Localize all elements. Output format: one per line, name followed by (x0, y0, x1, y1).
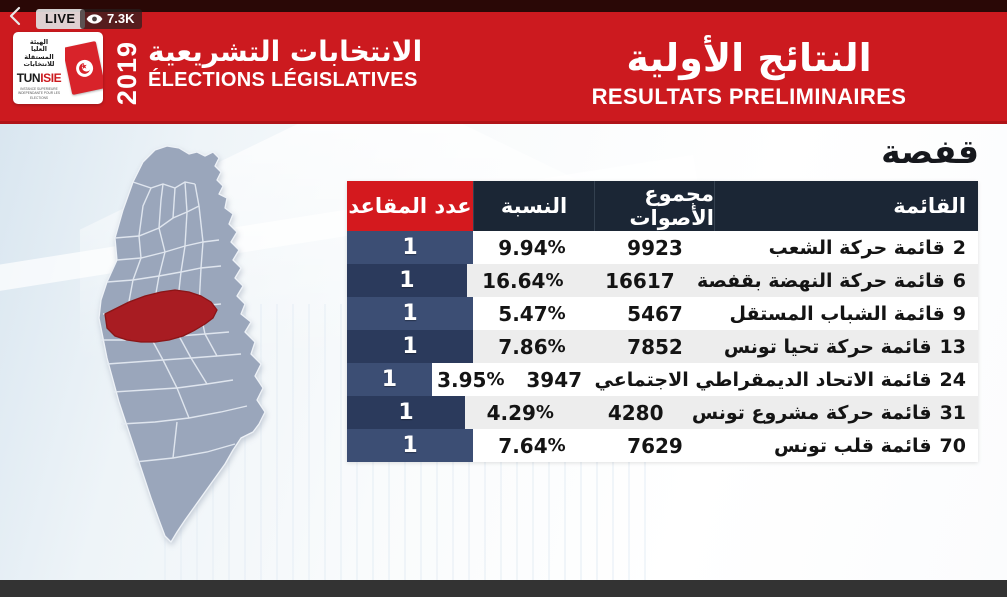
results-heading-french: RESULTATS PRELIMINAIRES (519, 84, 979, 110)
cell-percent: %9.94 (473, 231, 595, 264)
percent-sign: % (545, 270, 563, 291)
cell-seats: 1 (347, 264, 467, 297)
percent-sign: % (536, 402, 554, 423)
election-branding: 2019 الانتخابات التشريعية ÉLECTIONS LÉGI… (112, 36, 422, 105)
bottom-bar (0, 580, 1007, 597)
top-dark-strip (0, 0, 1007, 12)
cell-seats: 1 (347, 297, 473, 330)
tunisia-map-icon (55, 132, 355, 562)
cell-percent: %3.95 (432, 363, 514, 396)
list-name-inner: 70قائمة قلب تونس (715, 435, 966, 457)
page-header: الهيئة العليا المستقلة للانتخابات TUNISI… (0, 12, 1007, 124)
list-label: قائمة الشباب المستقل (729, 303, 944, 325)
column-header-percent: النسبة (473, 181, 595, 231)
isie-logo: الهيئة العليا المستقلة للانتخابات TUNISI… (13, 32, 103, 104)
header-bottom-accent (0, 121, 1007, 124)
percent-sign: % (548, 303, 566, 324)
logo-acronym: TUNISIE (17, 71, 62, 85)
list-number: 13 (940, 336, 966, 358)
list-number: 9 (953, 303, 966, 325)
election-title-arabic: الانتخابات التشريعية (148, 36, 422, 68)
list-label: قائمة حركة النهضة بقفصة (697, 270, 945, 292)
region-name: قفصة (881, 132, 979, 171)
list-name-inner: 6قائمة حركة النهضة بقفصة (697, 270, 966, 292)
flag-white-disc: ★ (74, 58, 94, 78)
cell-votes: 3947 (514, 363, 595, 396)
table-header: عدد المقاعد النسبة مجموع الأصوات القائمة (347, 181, 978, 231)
cell-percent: %16.64 (467, 264, 583, 297)
column-header-seats: عدد المقاعد (347, 181, 473, 231)
percent-sign: % (548, 435, 566, 456)
percent-value: 7.86 (498, 335, 547, 359)
logo-text-block: الهيئة العليا المستقلة للانتخابات TUNISI… (13, 32, 65, 104)
table-row: 1%9.9499232قائمة حركة الشعب (347, 231, 978, 264)
list-label: قائمة حركة تحيا تونس (724, 336, 932, 358)
cell-list-name: 6قائمة حركة النهضة بقفصة (697, 264, 978, 297)
table-row: 1%7.64762970قائمة قلب تونس (347, 429, 978, 462)
logo-arabic-line-2: العليا (31, 46, 47, 53)
list-name-inner: 2قائمة حركة الشعب (715, 237, 966, 259)
live-badge: LIVE (36, 9, 85, 29)
cell-percent: %5.47 (473, 297, 595, 330)
cell-percent: %7.64 (473, 429, 595, 462)
logo-acronym-suffix: ISIE (40, 71, 61, 85)
logo-arabic-line-4: للانتخابات (23, 61, 54, 68)
results-table: عدد المقاعد النسبة مجموع الأصوات القائمة… (347, 181, 978, 462)
cell-list-name: 13قائمة حركة تحيا تونس (715, 330, 978, 363)
percent-sign: % (548, 336, 566, 357)
results-heading: النتائج الأولية RESULTATS PRELIMINAIRES (519, 36, 979, 110)
cell-seats: 1 (347, 330, 473, 363)
cell-votes: 5467 (595, 297, 715, 330)
logo-flag-block: ★ (65, 32, 103, 104)
logo-arabic-lines: الهيئة العليا المستقلة للانتخابات (23, 39, 54, 68)
cell-list-name: 31قائمة حركة مشروع تونس (692, 396, 978, 429)
cell-seats: 1 (347, 396, 465, 429)
list-label: قائمة حركة مشروع تونس (692, 402, 932, 424)
table-body: 1%9.9499232قائمة حركة الشعب1%16.64166176… (347, 231, 978, 462)
table-row: 1%16.64166176قائمة حركة النهضة بقفصة (347, 264, 978, 297)
percent-value: 3.95 (437, 368, 486, 392)
list-name-inner: 9قائمة الشباب المستقل (715, 303, 966, 325)
cell-list-name: 70قائمة قلب تونس (715, 429, 978, 462)
back-chevron-icon[interactable] (4, 2, 26, 30)
percent-sign: % (486, 369, 504, 390)
percent-value: 5.47 (498, 302, 547, 326)
cell-list-name: 24قائمة الاتحاد الديمقراطي الاجتماعي (595, 363, 978, 396)
list-number: 2 (953, 237, 966, 259)
column-header-list: القائمة (715, 181, 978, 231)
table-row: 1%3.95394724قائمة الاتحاد الديمقراطي الا… (347, 363, 978, 396)
cell-list-name: 9قائمة الشباب المستقل (715, 297, 978, 330)
viewer-count-value: 7.3K (107, 11, 134, 26)
list-name-inner: 24قائمة الاتحاد الديمقراطي الاجتماعي (595, 369, 966, 391)
election-title-block: الانتخابات التشريعية ÉLECTIONS LÉGISLATI… (148, 36, 422, 91)
cell-seats: 1 (347, 231, 473, 264)
cell-seats: 1 (347, 363, 432, 396)
cell-votes: 4280 (579, 396, 691, 429)
election-title-french: ÉLECTIONS LÉGISLATIVES (148, 69, 422, 91)
results-heading-arabic: النتائج الأولية (519, 36, 979, 82)
cell-list-name: 2قائمة حركة الشعب (715, 231, 978, 264)
list-label: قائمة الاتحاد الديمقراطي الاجتماعي (595, 369, 932, 391)
cell-votes: 16617 (583, 264, 697, 297)
election-year: 2019 (112, 41, 143, 105)
list-number: 31 (940, 402, 966, 424)
column-header-votes: مجموع الأصوات (595, 181, 715, 231)
table-row: 1%5.4754679قائمة الشباب المستقل (347, 297, 978, 330)
cell-votes: 7852 (595, 330, 715, 363)
percent-value: 16.64 (482, 269, 545, 293)
list-label: قائمة حركة الشعب (769, 237, 945, 259)
list-name-inner: 13قائمة حركة تحيا تونس (715, 336, 966, 358)
tunisia-flag-icon: ★ (65, 41, 103, 95)
logo-acronym-prefix: TUN (17, 71, 40, 85)
percent-sign: % (548, 237, 566, 258)
cell-percent: %4.29 (465, 396, 579, 429)
cell-votes: 9923 (595, 231, 715, 264)
logo-french-subtitle: INSTANCE SUPERIEURE INDEPENDANTE POUR LE… (13, 87, 65, 101)
percent-value: 4.29 (487, 401, 536, 425)
viewer-count-badge: 7.3K (80, 9, 142, 29)
list-number: 24 (940, 369, 966, 391)
list-number: 6 (953, 270, 966, 292)
table-row: 1%7.86785213قائمة حركة تحيا تونس (347, 330, 978, 363)
list-number: 70 (940, 435, 966, 457)
cell-percent: %7.86 (473, 330, 595, 363)
list-label: قائمة قلب تونس (774, 435, 932, 457)
list-name-inner: 31قائمة حركة مشروع تونس (692, 402, 966, 424)
cell-votes: 7629 (595, 429, 715, 462)
table-row: 1%4.29428031قائمة حركة مشروع تونس (347, 396, 978, 429)
table-header-row: عدد المقاعد النسبة مجموع الأصوات القائمة (347, 181, 978, 231)
flag-star-icon: ★ (80, 62, 89, 71)
eye-icon (86, 13, 103, 25)
cell-seats: 1 (347, 429, 473, 462)
percent-value: 9.94 (498, 236, 547, 260)
percent-value: 7.64 (498, 434, 547, 458)
